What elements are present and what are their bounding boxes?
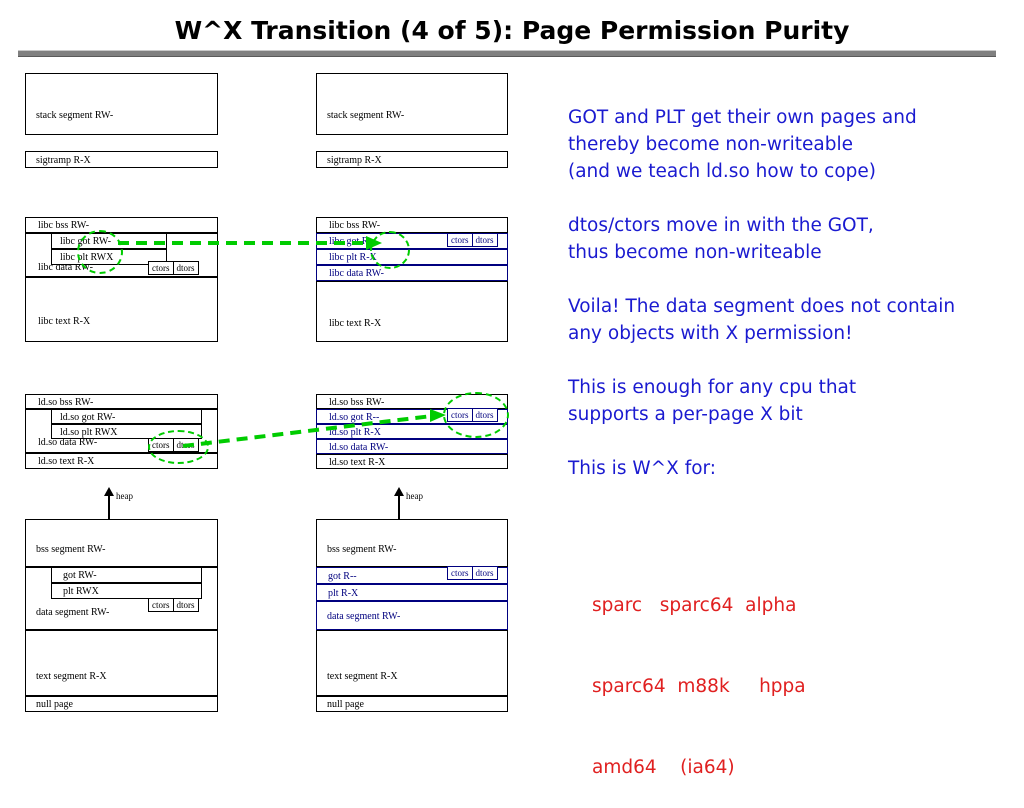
right-sigtramp-label: sigtramp R-X: [327, 155, 382, 166]
note-line: This is W^X for:: [568, 455, 1008, 482]
left-ldso-text-label: ld.so text R-X: [38, 456, 94, 467]
note-line: thus become non-writeable: [568, 239, 1008, 266]
right-prog-data-label: data segment RW-: [327, 611, 400, 622]
note-paragraph-1: GOT and PLT get their own pages and ther…: [568, 104, 1008, 185]
right-heap-arrow-shaft: [398, 495, 400, 520]
right-ldso-dtors-cell: dtors: [473, 409, 497, 421]
page-title: W^X Transition (4 of 5): Page Permission…: [0, 16, 1024, 45]
right-heap-arrow: heap: [390, 487, 450, 520]
right-prog-ctors-dtors: ctors dtors: [447, 566, 498, 580]
left-prog-bss: bss segment RW-: [25, 519, 218, 567]
left-ldso-ctors-cell: ctors: [149, 439, 174, 451]
note-paragraph-5: This is W^X for:: [568, 455, 1008, 482]
left-libc-plt-label: libc plt RWX: [60, 252, 113, 263]
left-libc-got-label: libc got RW-: [60, 236, 111, 247]
left-heap-arrow-shaft: [108, 495, 110, 520]
right-stack-label: stack segment RW-: [327, 110, 404, 121]
right-prog-plt-label: plt R-X: [328, 588, 358, 599]
left-prog-ctors-dtors: ctors dtors: [148, 598, 199, 612]
right-ldso-ctors-cell: ctors: [448, 409, 473, 421]
right-libc-got-label: libc got R--: [329, 236, 375, 247]
right-prog-null-page: null page: [316, 696, 508, 712]
left-ldso-bss: ld.so bss RW-: [25, 394, 218, 409]
left-prog-plt: plt RWX: [51, 583, 202, 599]
right-prog-bss: bss segment RW-: [316, 519, 508, 567]
note-line: GOT and PLT get their own pages and: [568, 104, 1008, 131]
note-line: thereby become non-writeable: [568, 131, 1008, 158]
left-prog-bss-label: bss segment RW-: [36, 544, 105, 555]
left-libc-got: libc got RW-: [51, 233, 167, 249]
right-heap-label: heap: [406, 491, 423, 501]
left-prog-ctors-cell: ctors: [149, 599, 174, 611]
title-divider: [18, 50, 996, 57]
left-ldso-plt: ld.so plt RWX: [51, 424, 202, 439]
architecture-row: sparc sparc64 alpha: [592, 592, 992, 619]
left-ldso-dtors-cell: dtors: [174, 439, 198, 451]
right-libc-text: libc text R-X: [316, 281, 508, 342]
right-ldso-text: ld.so text R-X: [316, 454, 508, 469]
right-ldso-data: ld.so data RW-: [316, 439, 508, 454]
right-libc-bss-label: libc bss RW-: [329, 220, 380, 231]
right-prog-plt: plt R-X: [316, 584, 508, 601]
left-prog-got: got RW-: [51, 567, 202, 583]
left-libc-bss: libc bss RW-: [25, 217, 218, 233]
left-prog-got-label: got RW-: [63, 570, 97, 581]
left-ldso-text: ld.so text R-X: [25, 453, 218, 469]
left-prog-null-label: null page: [36, 699, 73, 710]
left-heap-arrow: heap: [100, 487, 160, 520]
left-ldso-got-label: ld.so got RW-: [60, 412, 115, 423]
left-libc-text: libc text R-X: [25, 277, 218, 342]
right-libc-data-label: libc data RW-: [329, 268, 384, 279]
note-line: dtos/ctors move in with the GOT,: [568, 212, 1008, 239]
right-libc-ctors-dtors: ctors dtors: [447, 233, 498, 247]
note-paragraph-4: This is enough for any cpu that supports…: [568, 374, 1008, 428]
right-libc-data: libc data RW-: [316, 265, 508, 281]
right-ldso-plt-label: ld.so plt R-X: [329, 427, 381, 438]
left-libc-ctors-dtors: ctors dtors: [148, 261, 199, 275]
left-ldso-bss-label: ld.so bss RW-: [38, 397, 93, 408]
left-prog-dtors-cell: dtors: [174, 599, 198, 611]
right-ldso-data-label: ld.so data RW-: [329, 442, 388, 453]
right-libc-plt: libc plt R-X: [316, 249, 508, 265]
note-line: supports a per-page X bit: [568, 401, 1008, 428]
right-prog-dtors-cell: dtors: [473, 567, 497, 579]
left-prog-data-label: data segment RW-: [36, 607, 109, 618]
right-libc-plt-label: libc plt R-X: [329, 252, 377, 263]
left-stack-label: stack segment RW-: [36, 110, 113, 121]
left-prog-text: text segment R-X: [25, 630, 218, 696]
left-libc-text-label: libc text R-X: [38, 316, 90, 327]
right-ldso-bss-label: ld.so bss RW-: [329, 397, 384, 408]
note-paragraph-2: dtos/ctors move in with the GOT, thus be…: [568, 212, 1008, 266]
left-prog-text-label: text segment R-X: [36, 671, 107, 682]
right-prog-text-label: text segment R-X: [327, 671, 398, 682]
right-prog-ctors-cell: ctors: [448, 567, 473, 579]
right-stack-segment: stack segment RW-: [316, 73, 508, 135]
right-ldso-bss: ld.so bss RW-: [316, 394, 508, 409]
right-ldso-got-label: ld.so got R--: [329, 412, 379, 423]
right-prog-null-label: null page: [327, 699, 364, 710]
right-prog-data: data segment RW-: [316, 601, 508, 630]
left-libc-dtors-cell: dtors: [174, 262, 198, 274]
note-line: This is enough for any cpu that: [568, 374, 1008, 401]
explanation-notes: GOT and PLT get their own pages and ther…: [568, 104, 1008, 509]
right-ldso-ctors-dtors: ctors dtors: [447, 408, 498, 422]
note-line: Voila! The data segment does not contain: [568, 293, 1008, 320]
right-sigtramp-segment: sigtramp R-X: [316, 151, 508, 168]
left-libc-ctors-cell: ctors: [149, 262, 174, 274]
left-prog-plt-label: plt RWX: [63, 586, 99, 597]
right-ldso-text-label: ld.so text R-X: [329, 457, 385, 468]
right-libc-dtors-cell: dtors: [473, 234, 497, 246]
left-ldso-ctors-dtors: ctors dtors: [148, 438, 199, 452]
left-stack-segment: stack segment RW-: [25, 73, 218, 135]
right-prog-bss-label: bss segment RW-: [327, 544, 396, 555]
left-ldso-plt-label: ld.so plt RWX: [60, 427, 118, 438]
right-ldso-plt: ld.so plt R-X: [316, 424, 508, 439]
left-libc-bss-label: libc bss RW-: [38, 220, 89, 231]
left-ldso-got: ld.so got RW-: [51, 409, 202, 424]
note-paragraph-3: Voila! The data segment does not contain…: [568, 293, 1008, 347]
left-heap-label: heap: [116, 491, 133, 501]
right-prog-got-label: got R--: [328, 571, 357, 582]
left-sigtramp-label: sigtramp R-X: [36, 155, 91, 166]
left-prog-null-page: null page: [25, 696, 218, 712]
right-libc-ctors-cell: ctors: [448, 234, 473, 246]
left-sigtramp-segment: sigtramp R-X: [25, 151, 218, 168]
right-prog-text: text segment R-X: [316, 630, 508, 696]
right-libc-text-label: libc text R-X: [329, 318, 381, 329]
architecture-row: sparc64 m88k hppa: [592, 673, 992, 700]
note-line: (and we teach ld.so how to cope): [568, 158, 1008, 185]
note-line: any objects with X permission!: [568, 320, 1008, 347]
right-libc-bss: libc bss RW-: [316, 217, 508, 233]
